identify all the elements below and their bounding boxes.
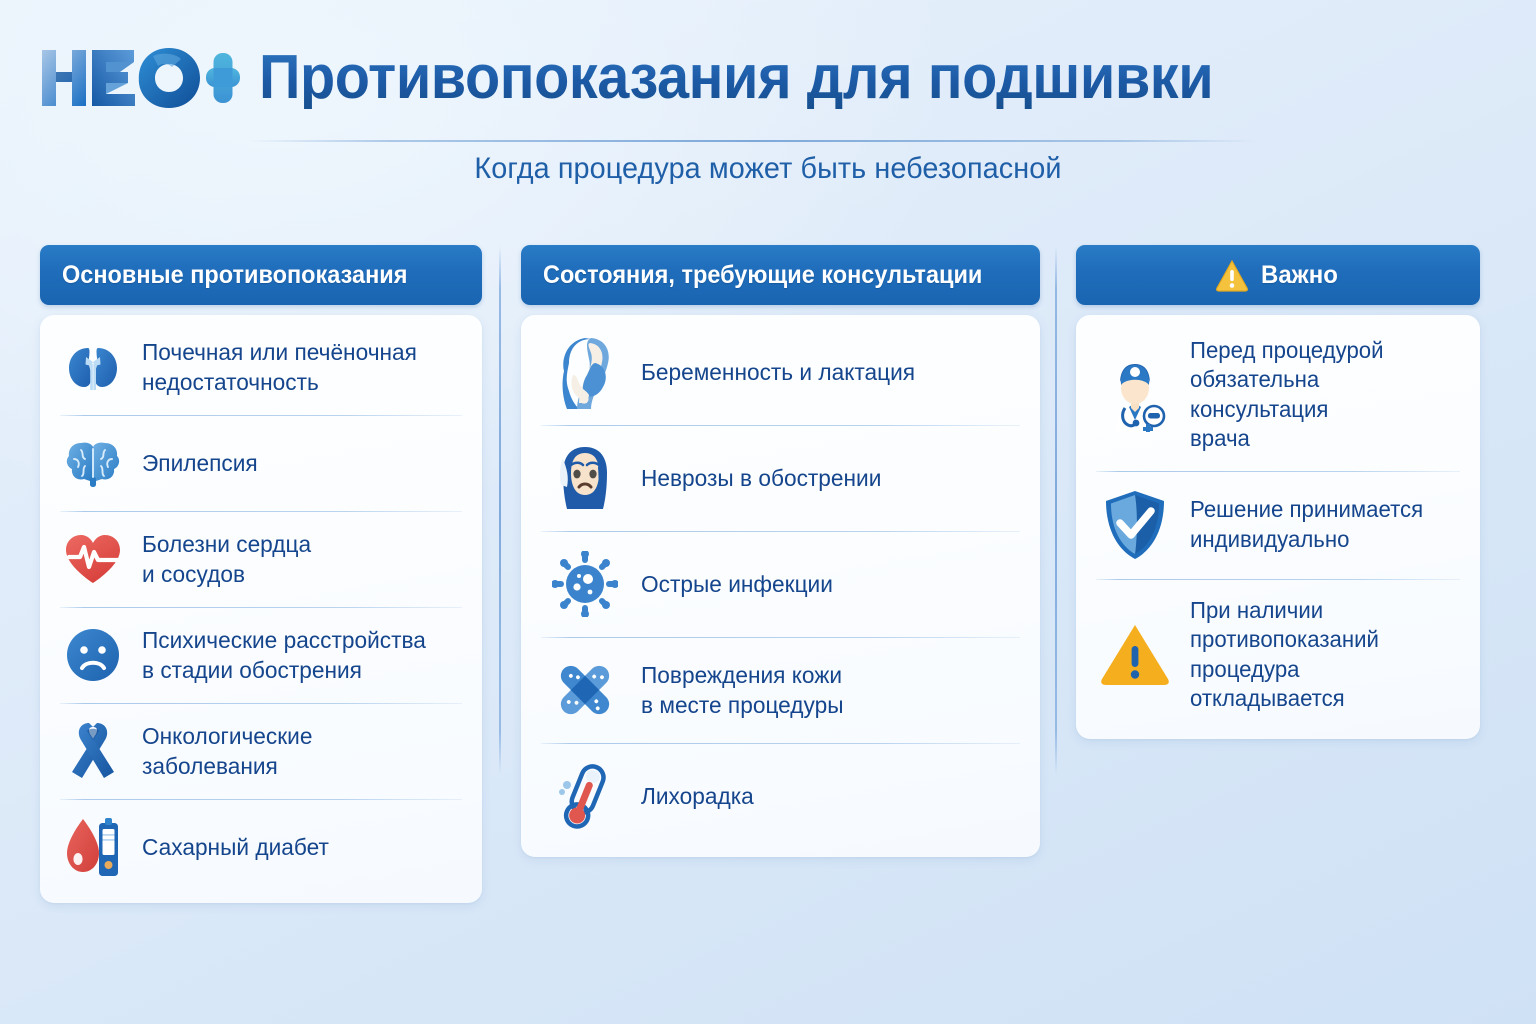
card-main-contraindications: Основные противопоказания По (40, 245, 482, 903)
list-item[interactable]: Лихорадка (521, 743, 1040, 849)
list-item-label: Психические расстройствав стадии обостре… (142, 625, 426, 685)
card-body-important: Перед процедуройобязательна консультация… (1076, 315, 1480, 739)
list-item[interactable]: Острые инфекции (521, 531, 1040, 637)
list-item[interactable]: Почечная или печёночнаянедостаточность (40, 319, 482, 415)
list-item-label: Лихорадка (641, 781, 754, 811)
card-conditions-requiring-consultation: Состояния, требующие консультации Береме… (521, 245, 1040, 857)
card-header-important: Важно (1076, 245, 1480, 305)
card-title: Основные противопоказания (62, 261, 407, 290)
sad-face-icon (60, 622, 126, 688)
list-item[interactable]: Повреждения кожив месте процедуры (521, 637, 1040, 743)
shield-check-icon (1098, 488, 1172, 562)
list-item-label: Решение принимаетсяиндивидуально (1190, 495, 1423, 554)
heart-pulse-icon (60, 526, 126, 592)
list-item[interactable]: При наличиипротивопоказанийпроцедура отк… (1076, 579, 1480, 731)
cards-board: Основные противопоказания По (0, 0, 1536, 1024)
list-item[interactable]: Онкологические заболевания (40, 703, 482, 799)
list-item-label: Неврозы в обострении (641, 463, 881, 493)
list-item[interactable]: Эпилепсия (40, 415, 482, 511)
list-item-label: Беременность и лактация (641, 357, 915, 387)
list-item-label: Сахарный диабет (142, 832, 329, 862)
virus-icon (549, 548, 621, 620)
list-item[interactable]: Перед процедуройобязательна консультация… (1076, 319, 1480, 471)
stressed-woman-icon (549, 442, 621, 514)
card-title: Состояния, требующие консультации (543, 261, 982, 290)
list-item[interactable]: Болезни сердцаи сосудов (40, 511, 482, 607)
blood-glucometer-icon (60, 814, 126, 880)
list-item-label: Острые инфекции (641, 569, 833, 599)
list-item[interactable]: Психические расстройствав стадии обостре… (40, 607, 482, 703)
column-divider-2 (1055, 246, 1057, 774)
card-header-conditions: Состояния, требующие консультации (521, 245, 1040, 305)
card-title: Важно (1261, 261, 1338, 290)
list-item-label: Болезни сердцаи сосудов (142, 529, 311, 589)
warning-triangle-icon (1215, 258, 1249, 292)
list-item[interactable]: Беременность и лактация (521, 319, 1040, 425)
list-item-label: Перед процедуройобязательна консультация… (1190, 336, 1452, 454)
kidneys-icon (60, 334, 126, 400)
card-important: Важно (1076, 245, 1480, 739)
card-header-main: Основные противопоказания (40, 245, 482, 305)
warning-triangle-icon (1098, 618, 1172, 692)
brain-icon (60, 430, 126, 496)
list-item-label: Онкологические заболевания (142, 721, 453, 781)
list-item-label: Эпилепсия (142, 448, 258, 478)
doctor-icon (1098, 358, 1172, 432)
bandages-icon (549, 654, 621, 726)
list-item-label: Повреждения кожив месте процедуры (641, 660, 844, 720)
column-divider-1 (499, 246, 501, 774)
list-item[interactable]: Сахарный диабет (40, 799, 482, 895)
thermometer-icon (549, 760, 621, 832)
card-body-conditions: Беременность и лактация (521, 315, 1040, 857)
list-item[interactable]: Неврозы в обострении (521, 425, 1040, 531)
pregnant-woman-icon (549, 336, 621, 408)
list-item-label: Почечная или печёночнаянедостаточность (142, 337, 417, 397)
awareness-ribbon-icon (60, 718, 126, 784)
list-item[interactable]: Решение принимаетсяиндивидуально (1076, 471, 1480, 579)
list-item-label: При наличиипротивопоказанийпроцедура отк… (1190, 596, 1452, 714)
card-body-main: Почечная или печёночнаянедостаточность (40, 315, 482, 903)
